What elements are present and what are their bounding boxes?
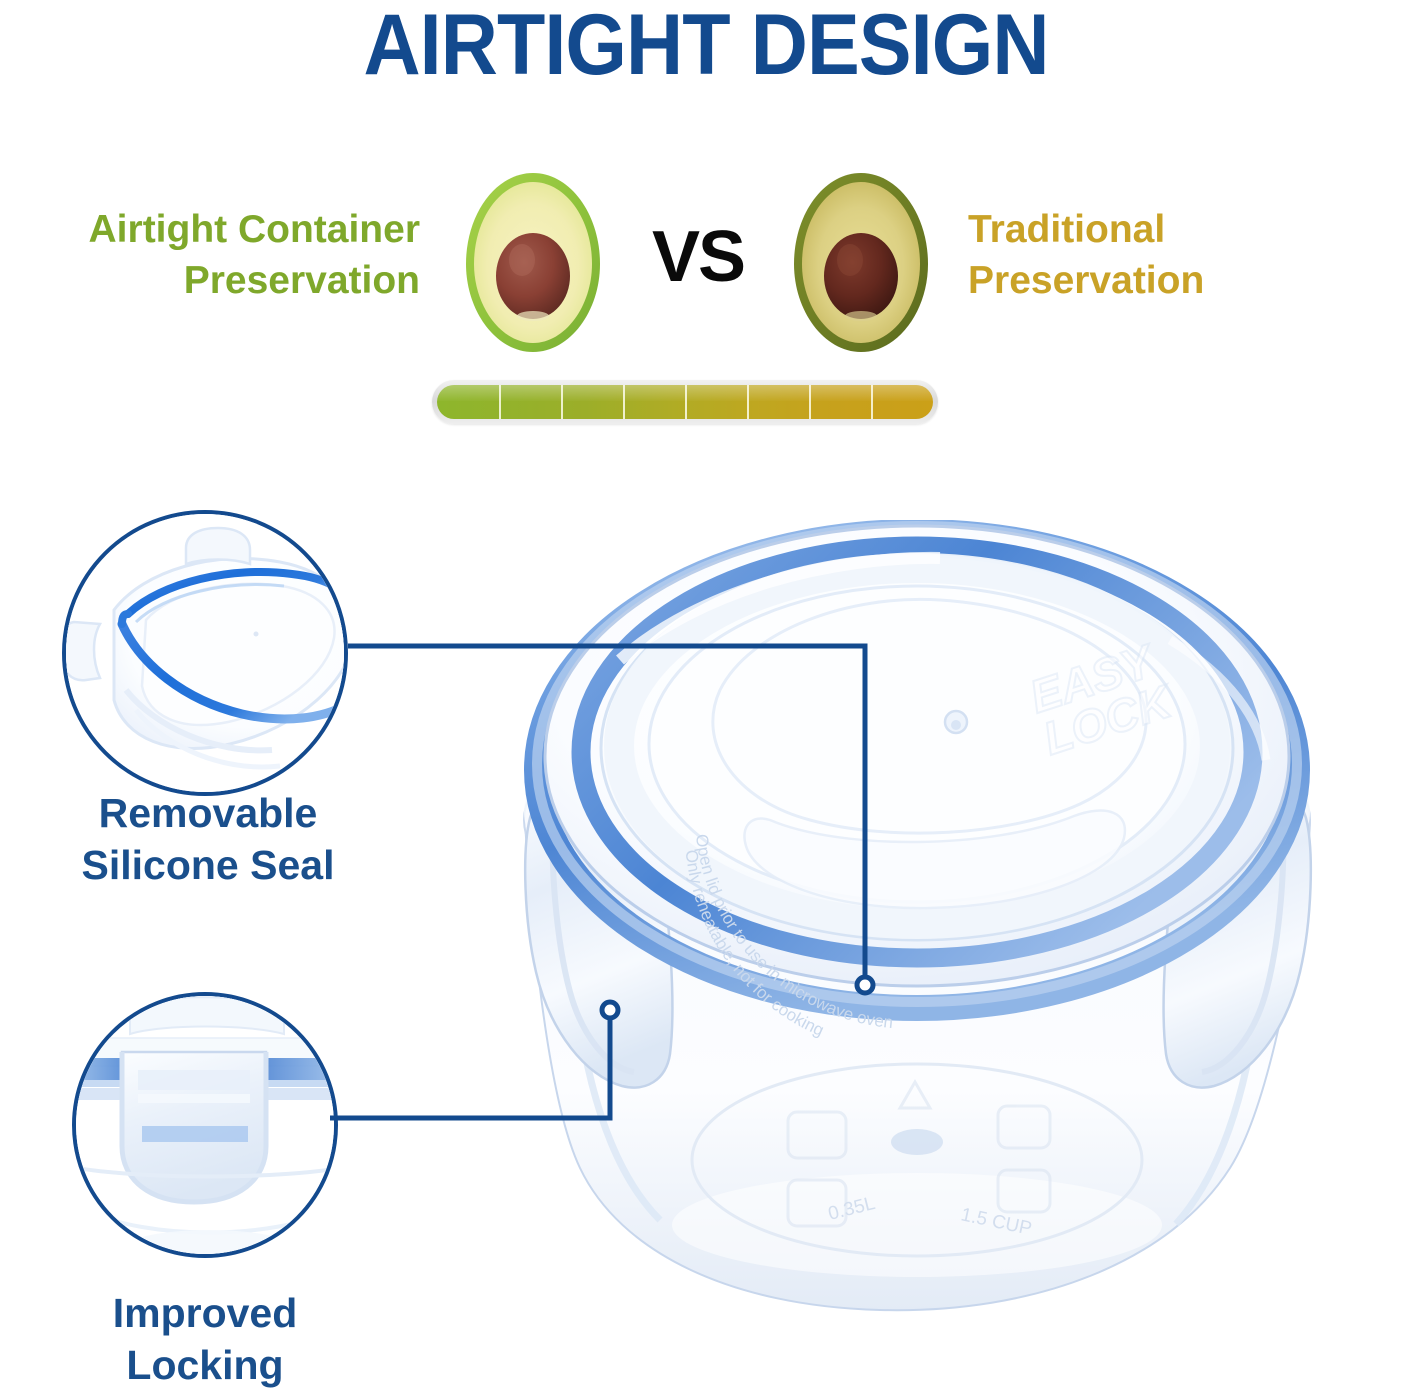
magnifier-removable-silicone-seal xyxy=(62,510,348,796)
bar-segment-divider xyxy=(561,385,563,419)
comparison-right-label: Traditional Preservation xyxy=(968,204,1408,307)
avocado-fresh-icon xyxy=(448,168,618,358)
callout-seal-line1: Removable xyxy=(18,788,398,840)
avocado-aged-icon xyxy=(776,168,946,358)
infographic-page: AIRTIGHT DESIGN Airtight Container Prese… xyxy=(0,0,1412,1391)
bar-segment-divider xyxy=(499,385,501,419)
freshness-bar-track xyxy=(437,385,933,419)
callout-lock-line2: Locking xyxy=(22,1340,388,1391)
comparison-right-label-line2: Preservation xyxy=(968,255,1408,306)
comparison-left-label-line2: Preservation xyxy=(0,255,420,306)
bar-segment-divider xyxy=(747,385,749,419)
bar-segment-divider xyxy=(623,385,625,419)
page-title: AIRTIGHT DESIGN xyxy=(56,2,1355,88)
callout-seal-line2: Silicone Seal xyxy=(18,840,398,892)
callout-lock-line1: Improved xyxy=(22,1288,388,1340)
comparison-left-label-line1: Airtight Container xyxy=(0,204,420,255)
bar-segment-divider xyxy=(685,385,687,419)
bar-segment-divider xyxy=(871,385,873,419)
seal-band-lower xyxy=(142,1126,248,1142)
versus-label: VS xyxy=(618,216,778,298)
comparison-right-label-line1: Traditional xyxy=(968,204,1408,255)
bar-segment-divider xyxy=(809,385,811,419)
freshness-gradient-bar xyxy=(432,380,938,424)
product-image-container: 0.35L 1.5 CUP xyxy=(470,520,1410,1320)
magnifier-improved-locking xyxy=(72,992,338,1258)
callout-label-improved-locking: Improved Locking xyxy=(22,1288,388,1391)
lid-tab-left xyxy=(66,622,100,680)
comparison-left-label: Airtight Container Preservation xyxy=(0,204,420,307)
callout-label-removable-silicone-seal: Removable Silicone Seal xyxy=(18,788,398,891)
lid-tab-top xyxy=(186,528,250,564)
